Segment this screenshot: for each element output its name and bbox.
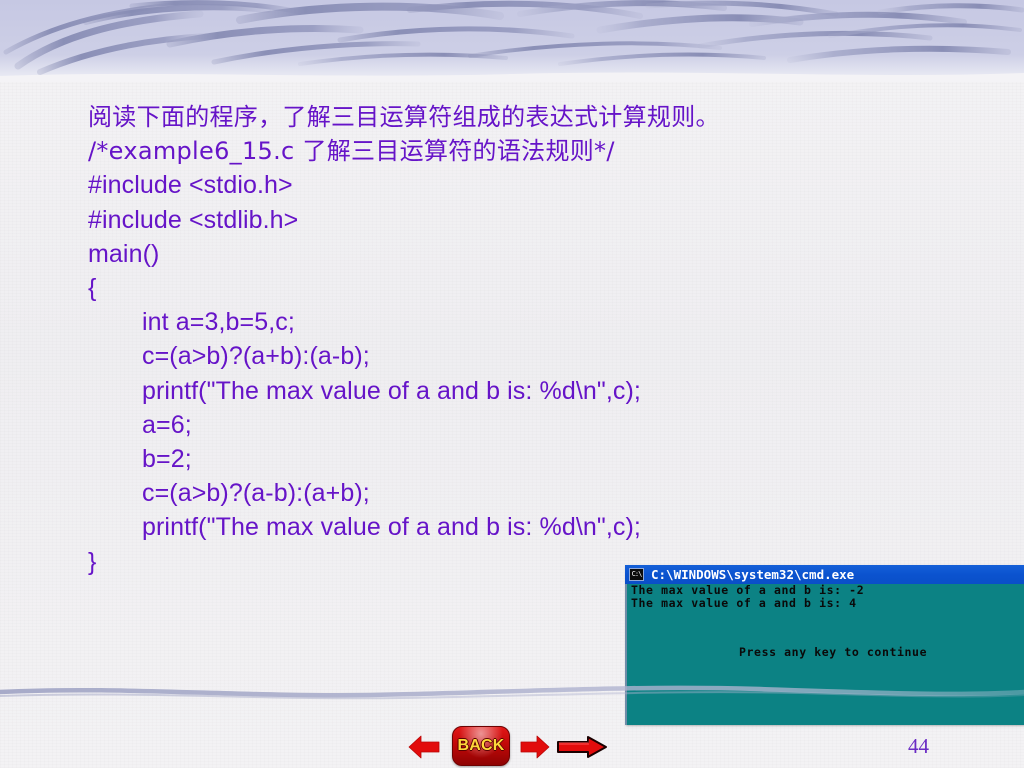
console-titlebar: C:\ C:\WINDOWS\system32\cmd.exe (625, 565, 1024, 584)
header-brushstrokes-graphic (0, 0, 1024, 82)
arrow-right-icon (520, 734, 550, 760)
arrow-left-icon (408, 734, 440, 760)
code-line: a=6; (88, 408, 908, 442)
back-button-label: BACK (457, 737, 504, 755)
back-button-icon: BACK (452, 726, 510, 766)
code-line: printf("The max value of a and b is: %d\… (88, 374, 908, 408)
back-button[interactable]: BACK (452, 726, 510, 766)
console-title: C:\WINDOWS\system32\cmd.exe (651, 567, 854, 582)
code-line: #include <stdio.h> (88, 168, 908, 202)
code-line: c=(a>b)?(a-b):(a+b); (88, 476, 908, 510)
forward-slide-button[interactable] (556, 734, 608, 765)
slide-canvas: 阅读下面的程序，了解三目运算符组成的表达式计算规则。/*example6_15.… (0, 0, 1024, 768)
cmd-console-icon: C:\ (629, 568, 644, 581)
slide-code-body: 阅读下面的程序，了解三目运算符组成的表达式计算规则。/*example6_15.… (88, 100, 908, 579)
previous-slide-button[interactable] (408, 734, 440, 765)
page-number: 44 (908, 734, 929, 759)
console-window: C:\ C:\WINDOWS\system32\cmd.exe The max … (625, 565, 1024, 725)
console-output-line: The max value of a and b is: 4 (627, 597, 1024, 610)
code-line: #include <stdlib.h> (88, 203, 908, 237)
code-line: /*example6_15.c 了解三目运算符的语法规则*/ (88, 134, 908, 168)
code-line: { (88, 271, 908, 305)
code-line: c=(a>b)?(a+b):(a-b); (88, 339, 908, 373)
code-line: int a=3,b=5,c; (88, 305, 908, 339)
console-prompt-line: Press any key to continue (627, 646, 1024, 659)
code-line: b=2; (88, 442, 908, 476)
code-line: 阅读下面的程序，了解三目运算符组成的表达式计算规则。 (88, 100, 908, 134)
console-output-area: The max value of a and b is: -2 The max … (625, 584, 1024, 725)
next-slide-button[interactable] (520, 734, 550, 765)
header-decoration-band (0, 0, 1024, 82)
code-line: printf("The max value of a and b is: %d\… (88, 510, 908, 544)
arrow-right-bold-icon (556, 734, 608, 760)
navigation-controls: BACK (408, 726, 608, 768)
code-line: main() (88, 237, 908, 271)
